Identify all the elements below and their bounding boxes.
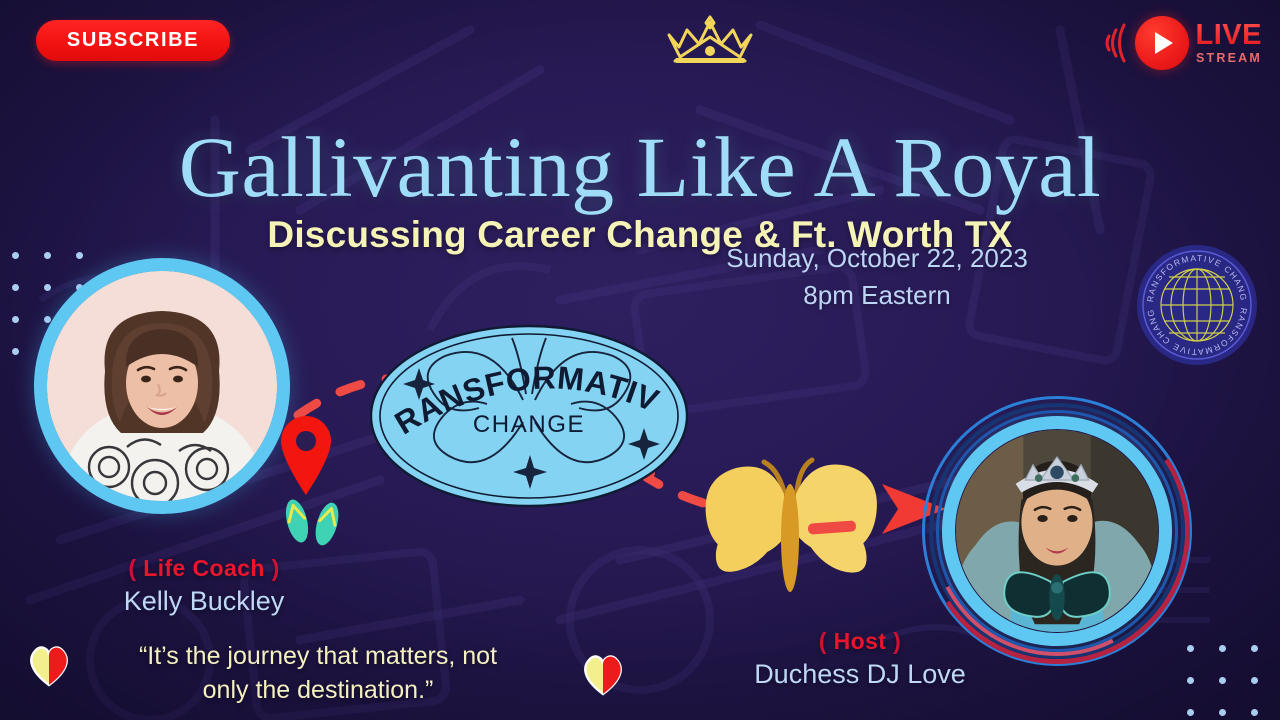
live-stream-text: LIVE STREAM [1196, 21, 1262, 65]
badge-line2-text: CHANGE [473, 411, 585, 438]
transformative-change-globe-logo: TRANSFORMATIVE CHANGE TRANSFORMATIVE CHA… [1136, 244, 1258, 366]
stream-label: STREAM [1196, 52, 1262, 65]
sound-wave-icon [1102, 17, 1128, 69]
transformative-change-badge: TRANSFORMATIVE CHANGE [368, 322, 690, 510]
subscribe-button[interactable]: SUBSCRIBE [36, 20, 230, 61]
dot-grid-icon-right [1187, 645, 1258, 716]
butterfly-icon [700, 448, 880, 608]
subscribe-label: SUBSCRIBE [67, 29, 199, 52]
quote-block: “It’s the journey that matters, not only… [78, 640, 558, 708]
guest-role-right: ( Host ) [740, 628, 980, 655]
duchess-dj-love-photo [956, 430, 1158, 632]
page-title: Gallivanting Like A Royal [0, 124, 1280, 210]
heart-icon-right [580, 650, 626, 696]
live-label: LIVE [1196, 21, 1262, 50]
crown-icon [655, 14, 765, 72]
role-text-left: Life Coach [143, 555, 265, 581]
paren-close-left: ) [272, 555, 280, 581]
paren-open-right: ( [819, 628, 827, 654]
paren-open-left: ( [128, 555, 136, 581]
quote-line-2: only the destination.” [78, 674, 558, 708]
play-icon[interactable] [1135, 16, 1189, 70]
guest-name-right: Duchess DJ Love [740, 659, 980, 690]
kelly-buckley-photo-ring [34, 258, 290, 514]
guest-label-left: ( Life Coach ) Kelly Buckley [104, 555, 304, 617]
role-text-right: Host [834, 628, 887, 654]
guest-role-left: ( Life Coach ) [104, 555, 304, 582]
livestream-promo-banner: SUBSCRIBE LIVE STREAM Gallivanting Like … [0, 0, 1280, 720]
guest-label-right: ( Host ) Duchess DJ Love [740, 628, 980, 690]
quote-line-1: “It’s the journey that matters, not [78, 640, 558, 674]
guest-name-left: Kelly Buckley [104, 586, 304, 617]
flip-flops-icon [281, 496, 345, 546]
duchess-dj-love-portrait [922, 396, 1192, 666]
paren-close-right: ) [893, 628, 901, 654]
heart-icon-left [26, 641, 72, 687]
kelly-buckley-portrait [34, 258, 290, 514]
map-pin-icon [277, 411, 335, 497]
live-stream-badge[interactable]: LIVE STREAM [1102, 16, 1262, 70]
butterfly-necklace-icon [1004, 572, 1110, 620]
